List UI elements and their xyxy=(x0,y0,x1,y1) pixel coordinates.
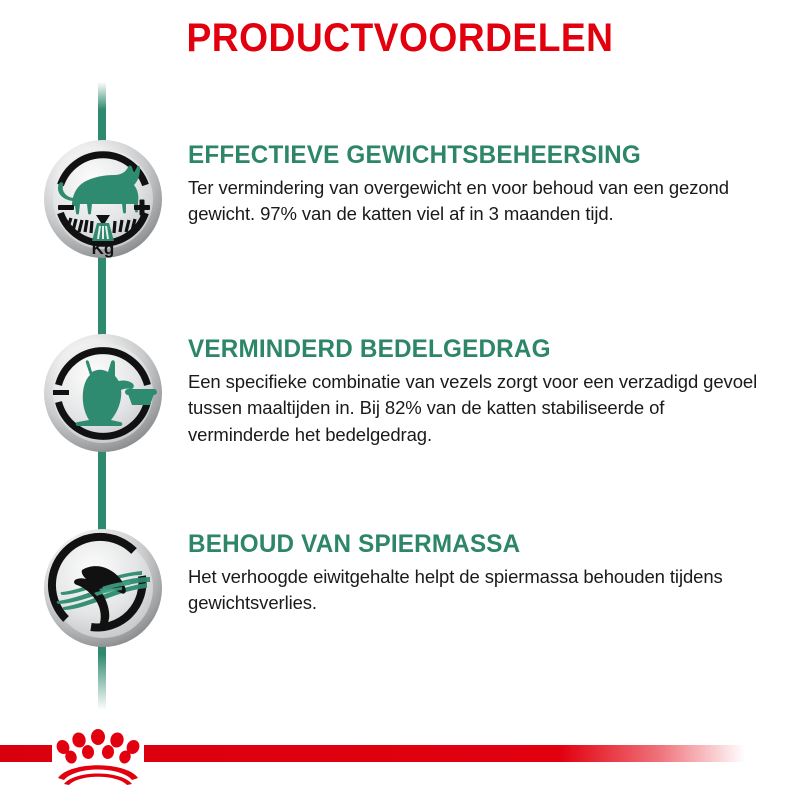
benefit-body: Ter vermindering van overgewicht en voor… xyxy=(188,175,762,228)
benefit-heading: EFFECTIEVE GEWICHTSBEHEERSING xyxy=(188,142,745,170)
benefit-body: Een specifieke combinatie van vezels zor… xyxy=(188,369,762,449)
benefit-heading: VERMINDERD BEDELGEDRAG xyxy=(188,336,745,364)
begging-cat-bowl-icon xyxy=(42,332,164,454)
page-title: PRODUCTVOORDELEN xyxy=(28,18,772,58)
benefit-text-block: VERMINDERD BEDELGEDRAG Een specifieke co… xyxy=(188,336,762,448)
weight-unit-label: Kg xyxy=(92,239,115,258)
muscle-fibre-icon xyxy=(42,527,164,649)
product-benefits-page: PRODUCTVOORDELEN xyxy=(0,0,800,800)
weight-scale-cat-icon: Kg xyxy=(42,138,164,260)
benefit-text-block: EFFECTIEVE GEWICHTSBEHEERSING Ter vermin… xyxy=(188,142,762,228)
royal-canin-crown-logo xyxy=(48,726,148,786)
benefit-body: Het verhoogde eiwitgehalte helpt de spie… xyxy=(188,564,762,617)
benefit-heading: BEHOUD VAN SPIERMASSA xyxy=(188,531,745,559)
benefit-text-block: BEHOUD VAN SPIERMASSA Het verhoogde eiwi… xyxy=(188,531,762,617)
